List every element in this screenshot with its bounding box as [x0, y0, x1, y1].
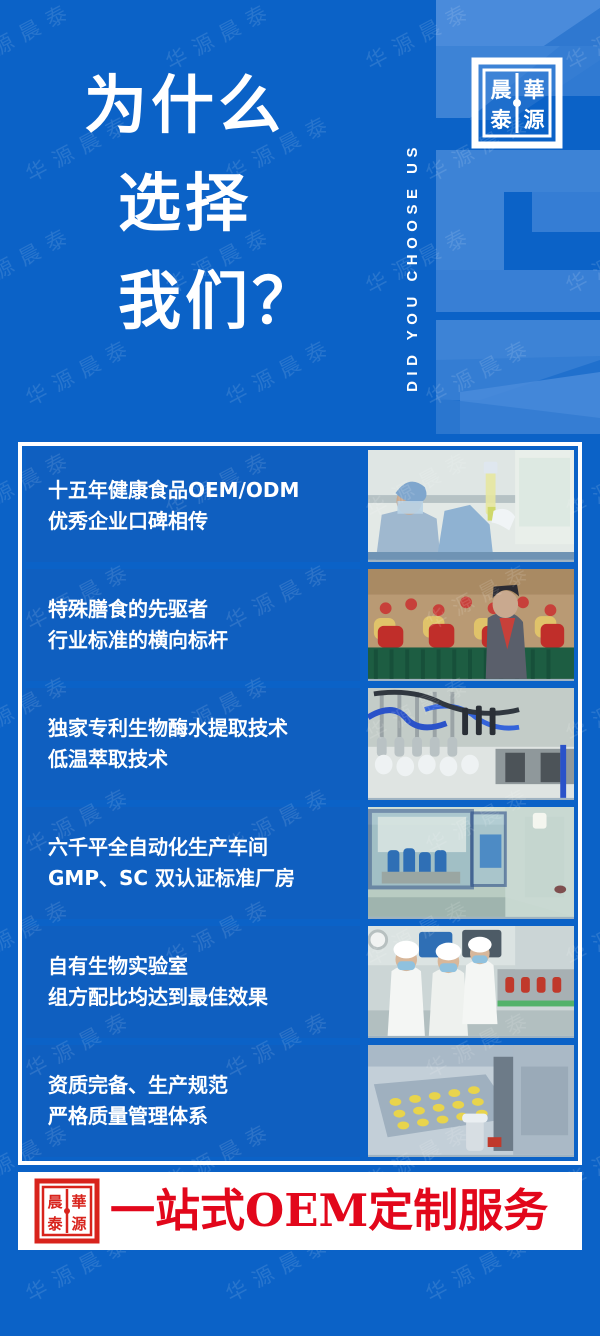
- bottom-slogan-text: 一站式OEM定制服务: [110, 1186, 548, 1236]
- features-list: 十五年健康食品OEM/ODM 优秀企业口碑相传: [26, 450, 574, 1157]
- feature-line-1: 资质完备、生产规范: [48, 1070, 360, 1101]
- svg-text:華: 華: [524, 77, 545, 102]
- feature-text: 六千平全自动化生产车间 GMP、SC 双认证标准厂房: [26, 807, 360, 919]
- poster-title: 为什么 选择 我们？: [84, 56, 319, 350]
- feature-line-2: 优秀企业口碑相传: [48, 506, 360, 537]
- feature-image: [368, 450, 574, 562]
- svg-text:華: 華: [71, 1193, 86, 1211]
- feature-line-2: 组方配比均达到最佳效果: [48, 982, 360, 1013]
- svg-text:泰: 泰: [46, 1215, 63, 1233]
- svg-text:晨: 晨: [47, 1193, 63, 1211]
- feature-image: [368, 807, 574, 919]
- feature-row[interactable]: 特殊膳食的先驱者 行业标准的横向标杆: [26, 569, 574, 681]
- brand-seal-icon: 晨 泰 華 源: [471, 57, 563, 149]
- feature-row[interactable]: 六千平全自动化生产车间 GMP、SC 双认证标准厂房: [26, 807, 574, 919]
- feature-image: [368, 926, 574, 1038]
- title-line-1: 为什么: [84, 56, 319, 154]
- title-line-2: 选择: [84, 154, 319, 252]
- feature-line-2: 行业标准的横向标杆: [48, 625, 360, 656]
- feature-line-1: 自有生物实验室: [48, 951, 360, 982]
- feature-text: 资质完备、生产规范 严格质量管理体系: [26, 1045, 360, 1157]
- feature-image: [368, 569, 574, 681]
- feature-image: [368, 1045, 574, 1157]
- svg-text:晨: 晨: [491, 77, 513, 102]
- svg-text:源: 源: [524, 107, 545, 132]
- svg-text:源: 源: [71, 1215, 86, 1233]
- feature-line-2: GMP、SC 双认证标准厂房: [48, 863, 360, 894]
- vertical-english-caption: DID YOU CHOOSE US: [399, 32, 425, 392]
- feature-text: 独家专利生物酶水提取技术 低温萃取技术: [26, 688, 360, 800]
- feature-line-1: 六千平全自动化生产车间: [48, 832, 360, 863]
- feature-image: [368, 688, 574, 800]
- feature-line-1: 特殊膳食的先驱者: [48, 594, 360, 625]
- brand-seal-red-icon: 晨 泰 華 源: [34, 1178, 100, 1244]
- feature-text: 十五年健康食品OEM/ODM 优秀企业口碑相传: [26, 450, 360, 562]
- feature-text: 自有生物实验室 组方配比均达到最佳效果: [26, 926, 360, 1038]
- feature-row[interactable]: 十五年健康食品OEM/ODM 优秀企业口碑相传: [26, 450, 574, 562]
- feature-row[interactable]: 资质完备、生产规范 严格质量管理体系: [26, 1045, 574, 1157]
- feature-line-2: 低温萃取技术: [48, 744, 360, 775]
- title-line-3: 我们？: [84, 252, 319, 350]
- feature-text: 特殊膳食的先驱者 行业标准的横向标杆: [26, 569, 360, 681]
- vertical-english-text: DID YOU CHOOSE US: [404, 142, 421, 392]
- feature-line-1: 独家专利生物酶水提取技术: [48, 713, 360, 744]
- feature-line-1: 十五年健康食品OEM/ODM: [48, 475, 360, 506]
- feature-row[interactable]: 独家专利生物酶水提取技术 低温萃取技术: [26, 688, 574, 800]
- hero-section: 为什么 选择 我们？ DID YOU CHOOSE US 晨 泰 華 源: [0, 0, 600, 434]
- svg-text:泰: 泰: [490, 107, 513, 132]
- feature-line-2: 严格质量管理体系: [48, 1101, 360, 1132]
- feature-row[interactable]: 自有生物实验室 组方配比均达到最佳效果: [26, 926, 574, 1038]
- bottom-slogan-bar: 晨 泰 華 源 一站式OEM定制服务: [18, 1172, 582, 1250]
